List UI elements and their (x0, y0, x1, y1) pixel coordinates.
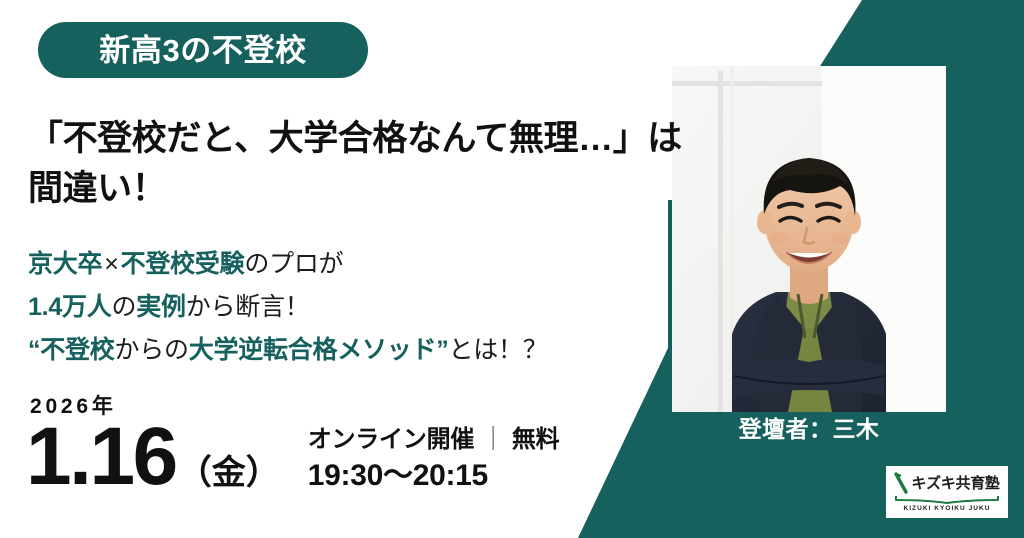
subtitle-l3-quote-open: “ (28, 336, 40, 364)
subtitle-l1-x: × (102, 250, 120, 278)
subtitle-l1-a: 京大卒 (28, 250, 102, 278)
speaker-name: 登壇者：三木 (739, 416, 880, 442)
event-day-row: 1.16 （金） (26, 421, 280, 493)
brand-logo: キズキ共育塾 KIZUKI KYOIKU JUKU (886, 466, 1008, 518)
subtitle-l3-quote-close: ” (436, 336, 448, 364)
event-day: 1.16 (26, 421, 176, 493)
brand-logo-row: キズキ共育塾 (894, 471, 999, 495)
brand-slash-icon (894, 472, 908, 494)
subtitle-l3-d: とは！？ (449, 336, 548, 364)
speaker-caption: 登壇者：三木 (672, 418, 946, 442)
subtitle-l1-b: 不登校受験 (121, 250, 245, 278)
subtitle-l2-a: 1.4万人 (28, 293, 112, 321)
poster-canvas: 新高3の不登校 「不登校だと、大学合格なんて無理…」は 間違い！ 京大卒×不登校… (0, 0, 1024, 538)
event-details: オンライン開催｜無料 19:30〜20:15 (308, 426, 560, 491)
event-format-row: オンライン開催｜無料 (308, 426, 560, 454)
subtitle-l2-d: から断言！ (186, 293, 310, 321)
subtitle-line-1: 京大卒×不登校受験のプロが (28, 243, 688, 286)
subtitle-line-3: “不登校からの大学逆転合格メソッド”とは！？ (28, 329, 688, 372)
brand-logo-romaji: KIZUKI KYOIKU JUKU (904, 506, 991, 513)
event-time: 19:30〜20:15 (308, 461, 488, 491)
event-day-of-week: （金） (178, 456, 280, 490)
event-format: オンライン開催 (308, 426, 474, 453)
category-badge: 新高3の不登校 (38, 22, 368, 78)
brand-logo-jp: キズキ共育塾 (911, 476, 999, 491)
headline-line-1: 「不登校だと、大学合格なんて無理…」は (28, 114, 728, 164)
headline-line-2: 間違い！ (28, 164, 728, 214)
event-separator: ｜ (474, 426, 512, 453)
subtitle-line-2: 1.4万人の実例から断言！ (28, 286, 688, 329)
event-date: 2026年 1.16 （金） (26, 396, 280, 493)
subtitle-l2-c: 実例 (136, 293, 186, 321)
event-price: 無料 (512, 426, 560, 453)
event-datetime: 2026年 1.16 （金） オンライン開催｜無料 19:30〜20:15 (26, 396, 559, 493)
subtitle: 京大卒×不登校受験のプロが 1.4万人の実例から断言！ “不登校からの大学逆転合… (28, 243, 688, 372)
headline: 「不登校だと、大学合格なんて無理…」は 間違い！ (28, 114, 728, 213)
brand-book-icon (895, 495, 999, 504)
subtitle-l3-a: 不登校 (40, 336, 114, 364)
subtitle-l3-c: 大学逆転合格メソッド (189, 336, 437, 364)
subtitle-l3-b: からの (115, 336, 189, 364)
subtitle-l1-c: のプロが (244, 250, 343, 278)
subtitle-l2-b: の (112, 293, 137, 321)
category-badge-label: 新高3の不登校 (99, 35, 307, 66)
